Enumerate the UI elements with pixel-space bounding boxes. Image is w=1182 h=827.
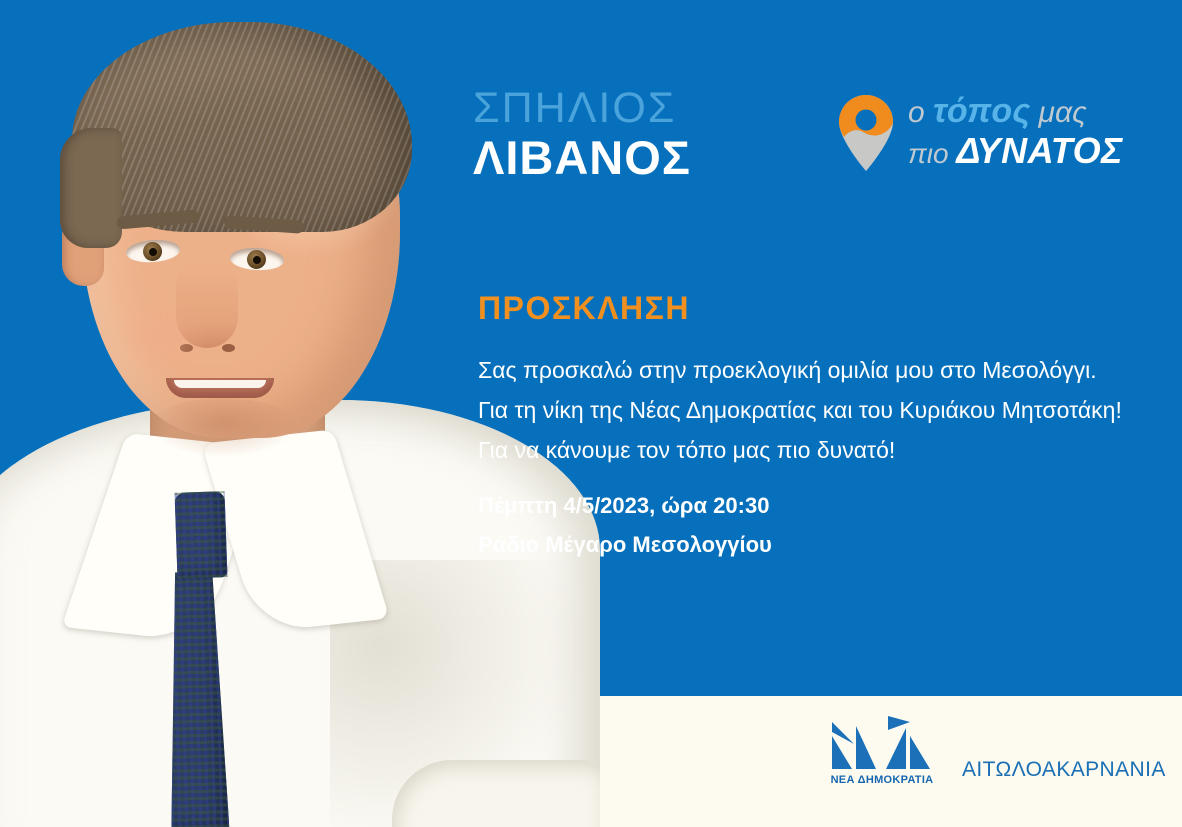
party-wordmark: ΝΕΑ ΔΗΜΟΚΡΑΤΙΑ (831, 774, 934, 786)
campaign-slogan-lockup: ο τόπος μας πιο ΔΥΝΑΤΟΣ (838, 92, 1123, 173)
footer-logo-bar: ΝΕΑ ΔΗΜΟΚΡΑΤΙΑ ΑΙΤΩΛΟΑΚΑΡΝΑΝΙΑ (828, 714, 1166, 786)
event-datetime: Πέμπτη 4/5/2023, ώρα 20:30 (478, 486, 772, 525)
invitation-body-line: Για να κάνουμε τον τόπο μας πιο δυνατό! (478, 430, 1138, 470)
invitation-body-line: Σας προσκαλώ στην προεκλογική ομιλία μου… (478, 350, 1138, 390)
event-venue: Ράδιο Μέγαρο Μεσολογγίου (478, 525, 772, 564)
nostril-right (222, 344, 235, 352)
necktie-knot (175, 491, 228, 579)
slogan-line1-post: μας (1030, 96, 1086, 129)
cheek-highlight (116, 300, 208, 372)
candidate-name-block: ΣΠΗΛΙΟΣ ΛΙΒΑΝΟΣ (473, 84, 691, 184)
chin-shading (148, 398, 298, 458)
nd-logo-icon (830, 714, 934, 772)
slogan-line1-pre: ο (908, 96, 933, 129)
campaign-poster: ΣΠΗΛΙΟΣ ΛΙΒΑΝΟΣ ο τόπος μας πιο ΔΥΝΑΤΟΣ … (0, 0, 1182, 827)
slogan-text: ο τόπος μας πιο ΔΥΝΑΤΟΣ (908, 92, 1123, 173)
invitation-body: Σας προσκαλώ στην προεκλογική ομιλία μου… (478, 350, 1138, 470)
iris-right (246, 249, 266, 269)
map-pin-icon (838, 94, 894, 172)
slogan-line1-highlight: τόπος (933, 92, 1030, 130)
hair (72, 22, 412, 232)
iris-left (142, 241, 162, 261)
slogan-line2-highlight: ΔΥΝΑΤΟΣ (956, 130, 1123, 171)
invitation-body-line: Για τη νίκη της Νέας Δημοκρατίας και του… (478, 390, 1138, 430)
invitation-headline: ΠΡΟΣΚΛΗΣΗ (478, 290, 690, 327)
mouth (166, 378, 274, 398)
shirt-cuff (392, 760, 600, 827)
nea-dimokratia-logo: ΝΕΑ ΔΗΜΟΚΡΑΤΙΑ (828, 714, 936, 786)
event-details: Πέμπτη 4/5/2023, ώρα 20:30 Ράδιο Μέγαρο … (478, 486, 772, 564)
candidate-last-name: ΛΙΒΑΝΟΣ (473, 132, 691, 184)
candidate-first-name: ΣΠΗΛΙΟΣ (473, 84, 691, 132)
hair-sideburn (60, 128, 122, 248)
region-label: ΑΙΤΩΛΟΑΚΑΡΝΑΝΙΑ (962, 758, 1166, 786)
slogan-line-1: ο τόπος μας (908, 92, 1123, 132)
slogan-line-2: πιο ΔΥΝΑΤΟΣ (908, 132, 1123, 173)
slogan-line2-pre: πιο (908, 138, 956, 169)
